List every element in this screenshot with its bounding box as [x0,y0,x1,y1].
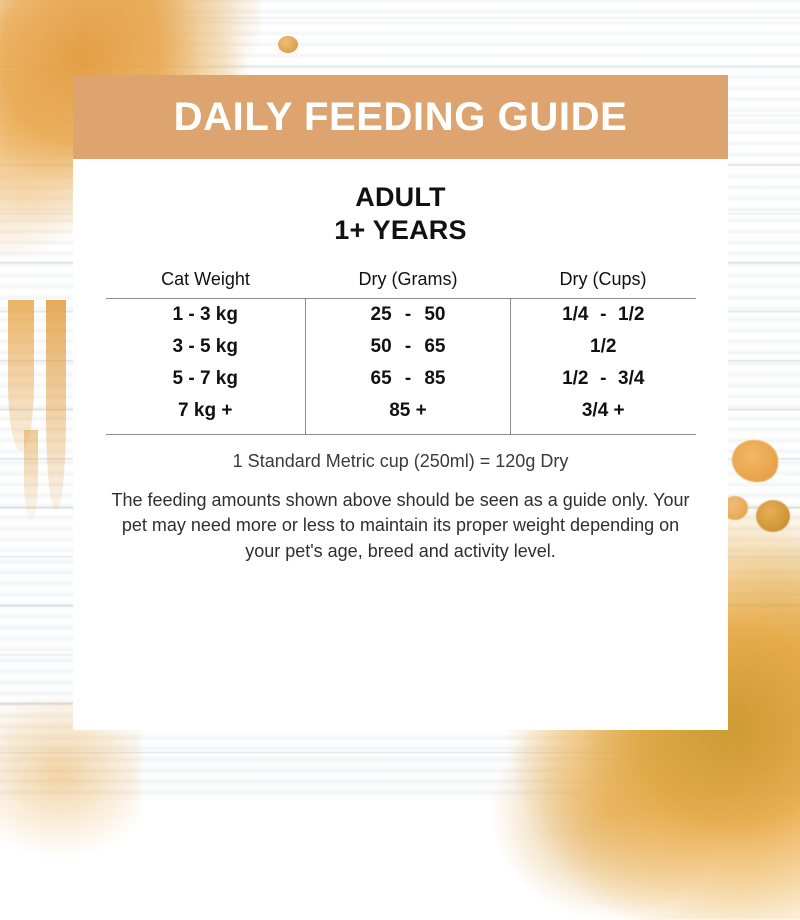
cell-cat-weight: 1 - 3 kg [106,298,306,331]
cell-dry-cups: 1/2 - 3/4 [511,363,696,395]
value-high: 85 [424,368,510,390]
table-row: 3 - 5 kg 50 - 65 1/2 [106,331,696,363]
table-row: 7 kg + 85 + 3/4 + [106,395,696,434]
watercolor-drip [24,430,38,520]
feeding-guide-card: DAILY FEEDING GUIDE ADULT 1+ YEARS Cat W… [73,75,728,730]
life-stage-line1: ADULT [355,182,445,212]
cell-cat-weight: 3 - 5 kg [106,331,306,363]
range-dash: - [392,336,425,358]
value-high: 65 [424,336,510,358]
cell-dry-grams: 25 - 50 [306,298,511,331]
value-low: 65 [306,368,392,390]
range-dash: - [588,368,618,390]
column-header-cat-weight: Cat Weight [106,269,306,299]
cell-dry-grams: 65 - 85 [306,363,511,395]
cup-conversion-note: 1 Standard Metric cup (250ml) = 120g Dry [105,451,696,472]
card-body: ADULT 1+ YEARS Cat Weight Dry (Grams) Dr… [73,181,728,565]
table-bottom-rule [106,434,696,435]
cell-cat-weight: 7 kg + [106,395,306,434]
range-dash: - [392,368,425,390]
cell-dry-grams: 50 - 65 [306,331,511,363]
cell-dry-cups: 1/4 - 1/2 [511,298,696,331]
value-single: 85 + [306,400,510,422]
feeding-table: Cat Weight Dry (Grams) Dry (Cups) 1 - 3 … [106,269,696,434]
life-stage-line2: 1+ YEARS [105,214,696,247]
value-high: 50 [424,304,510,326]
table-row: 5 - 7 kg 65 - 85 1/2 - [106,363,696,395]
watercolor-drip [46,300,66,510]
page-title: DAILY FEEDING GUIDE [174,95,628,140]
cell-dry-grams: 85 + [306,395,511,434]
life-stage-subtitle: ADULT 1+ YEARS [105,181,696,247]
value-single: 3/4 + [511,400,696,422]
cell-dry-cups: 1/2 [511,331,696,363]
range-dash: - [588,304,618,326]
cell-cat-weight: 5 - 7 kg [106,363,306,395]
title-bar: DAILY FEEDING GUIDE [73,75,728,159]
column-header-dry-cups: Dry (Cups) [511,269,696,299]
column-header-dry-grams: Dry (Grams) [306,269,511,299]
value-low: 1/4 [511,304,588,326]
value-low: 1/2 [511,368,588,390]
feeding-disclaimer: The feeding amounts shown above should b… [111,488,691,565]
watercolor-blob [756,500,790,532]
table-header-row: Cat Weight Dry (Grams) Dry (Cups) [106,269,696,299]
watercolor-blob [732,440,778,482]
value-single: 1/2 [511,336,696,358]
watercolor-droplet-top [278,36,298,53]
value-high: 1/2 [618,304,695,326]
cell-dry-cups: 3/4 + [511,395,696,434]
table-row: 1 - 3 kg 25 - 50 1/4 - [106,298,696,331]
range-dash: - [392,304,425,326]
value-low: 25 [306,304,392,326]
value-high: 3/4 [618,368,695,390]
feeding-table-wrapper: Cat Weight Dry (Grams) Dry (Cups) 1 - 3 … [105,269,696,435]
value-low: 50 [306,336,392,358]
watercolor-drip [8,300,34,450]
